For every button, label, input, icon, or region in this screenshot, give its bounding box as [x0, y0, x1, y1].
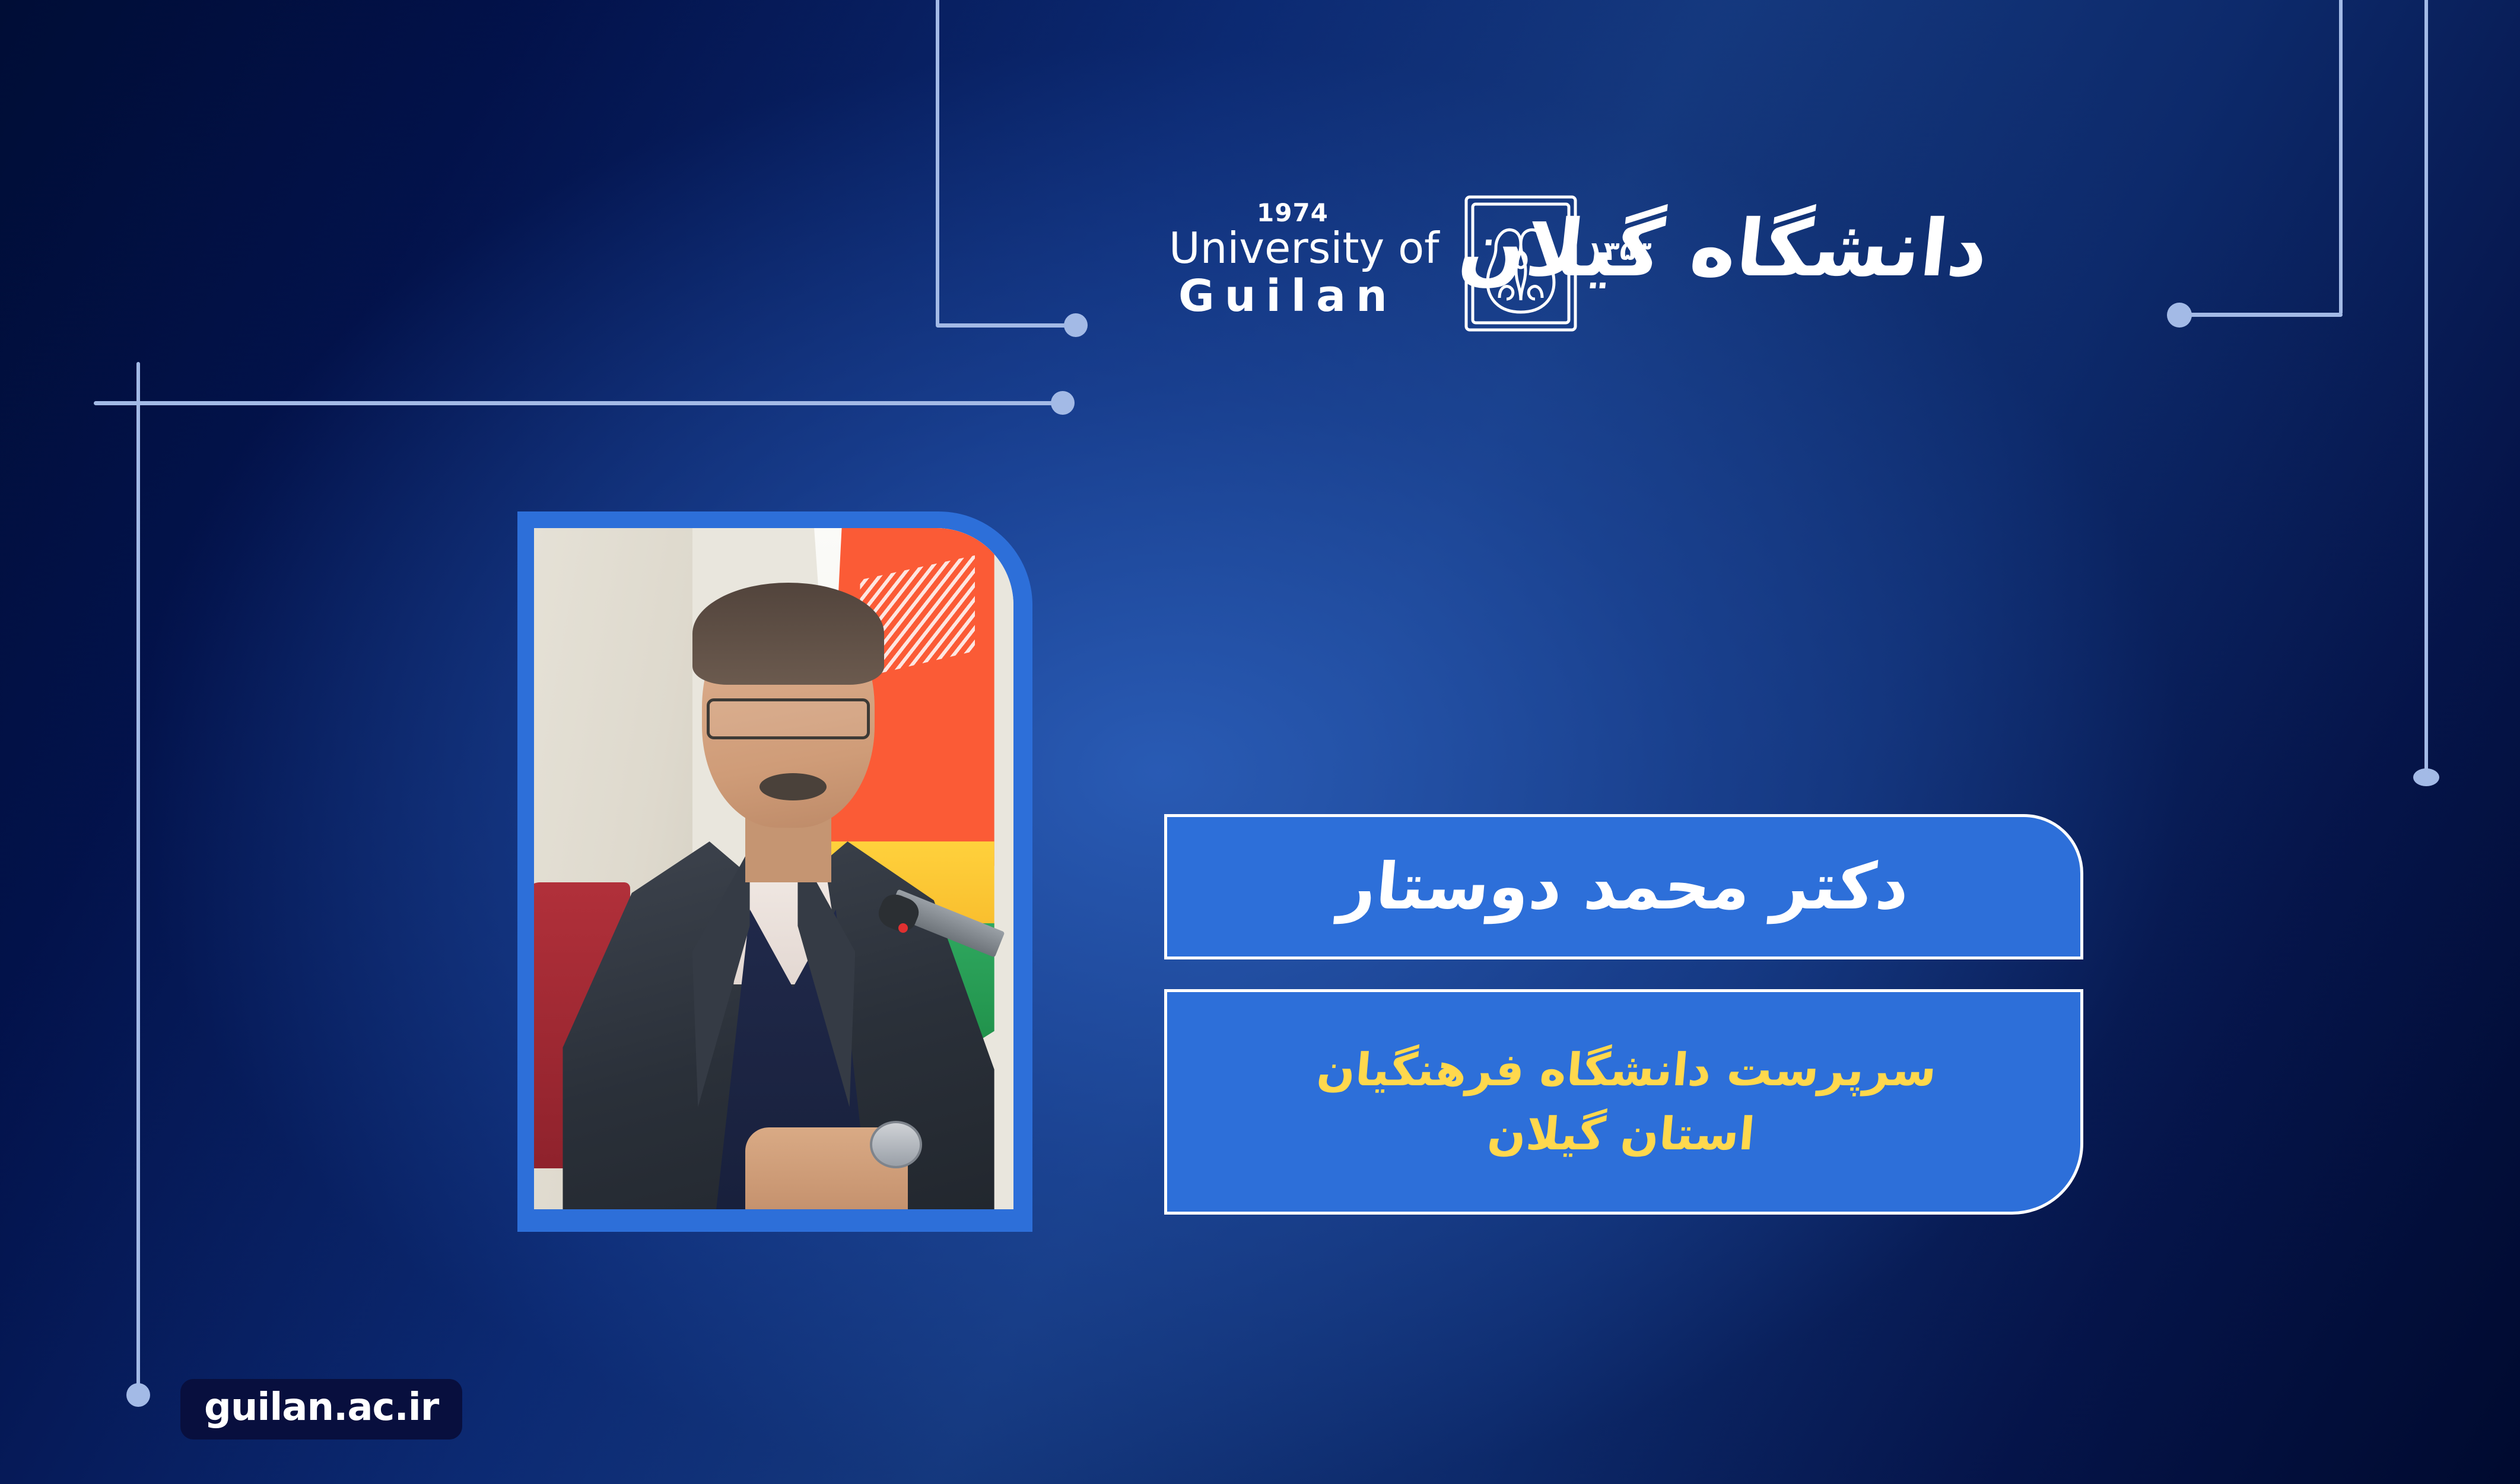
decor-line-top-left-vertical — [936, 0, 939, 326]
logo-university-of: University of — [1169, 227, 1477, 269]
person-name: دکتر محمد دوستار — [1336, 855, 1911, 919]
photo-glasses — [707, 698, 870, 739]
decor-line-top-left-horizontal — [936, 323, 1072, 328]
name-banner: دکتر محمد دوستار — [1164, 814, 2083, 959]
decor-line-left-vertical — [136, 362, 140, 1394]
announcement-banner: 1974 University of Guilan ۱۳۵۳ دانشگاه گ… — [0, 0, 2520, 1484]
decor-line-far-right-vertical — [2424, 0, 2428, 777]
decor-dot-top-right — [2167, 303, 2192, 328]
university-logo: 1974 University of Guilan ۱۳۵۳ دانشگاه گ… — [1163, 190, 2100, 338]
logo-english-text: 1974 University of Guilan — [1169, 201, 1477, 318]
decor-dot-far-right — [2413, 768, 2439, 786]
photo-microphone-led — [898, 923, 908, 933]
logo-guilan-word: Guilan — [1169, 274, 1477, 318]
decor-dot-top-left — [1064, 313, 1088, 337]
decor-line-middle-horizontal — [94, 401, 1067, 405]
logo-year-english: 1974 — [1169, 201, 1477, 225]
website-url-badge[interactable]: guilan.ac.ir — [180, 1379, 462, 1439]
subtitle-banner: سرپرست دانشگاه فرهنگیان استان گیلان — [1164, 989, 2083, 1215]
photo-hair — [692, 583, 884, 685]
decor-line-top-right-horizontal — [2179, 313, 2343, 317]
logo-persian-name: دانشگاه گیلان — [1626, 196, 1994, 301]
decor-dot-left-bottom — [126, 1383, 150, 1407]
decor-line-top-right-vertical — [2339, 0, 2343, 314]
person-title: سرپرست دانشگاه فرهنگیان استان گیلان — [1308, 1038, 1939, 1166]
photo-wristwatch — [870, 1121, 923, 1168]
photo-moustache — [760, 773, 827, 800]
portrait-photo — [534, 528, 1013, 1209]
decor-dot-middle — [1051, 391, 1075, 415]
portrait-frame — [517, 511, 1032, 1232]
